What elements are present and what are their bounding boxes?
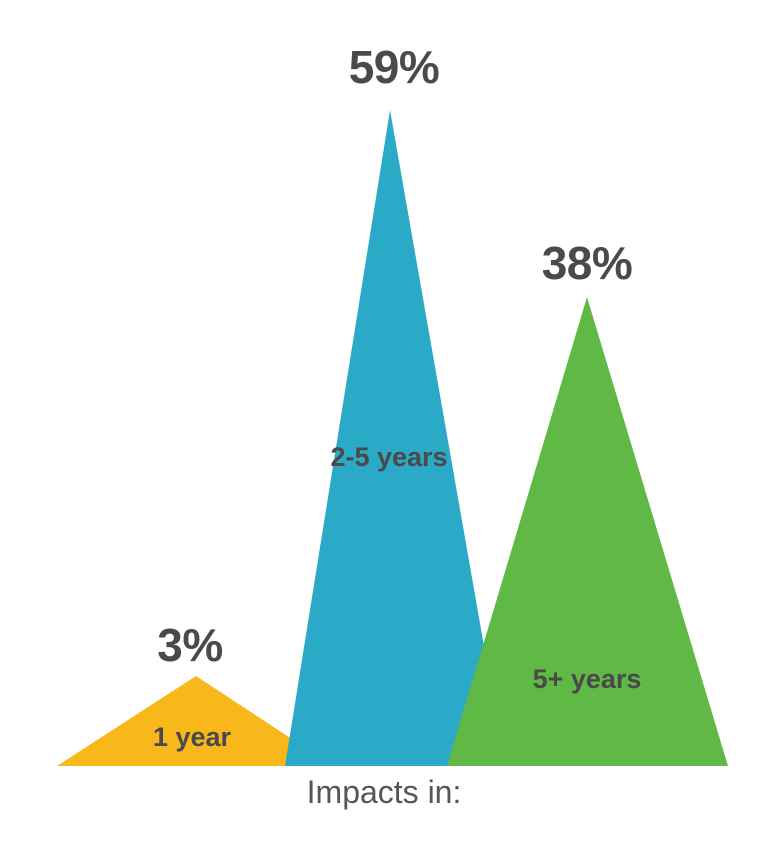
value-label-2-5-years: 59% bbox=[349, 44, 440, 90]
value-label-5-plus-years: 38% bbox=[542, 240, 633, 286]
series-label-2-5-years: 2-5 years bbox=[330, 444, 447, 471]
chart-plot-area bbox=[0, 0, 768, 842]
x-axis-caption: Impacts in: bbox=[307, 776, 462, 808]
triangle-chart: 3% 59% 38% 1 year 2-5 years 5+ years Imp… bbox=[0, 0, 768, 842]
series-label-5-plus-years: 5+ years bbox=[533, 666, 642, 693]
value-label-1-year: 3% bbox=[157, 622, 222, 668]
series-label-1-year: 1 year bbox=[153, 724, 231, 751]
